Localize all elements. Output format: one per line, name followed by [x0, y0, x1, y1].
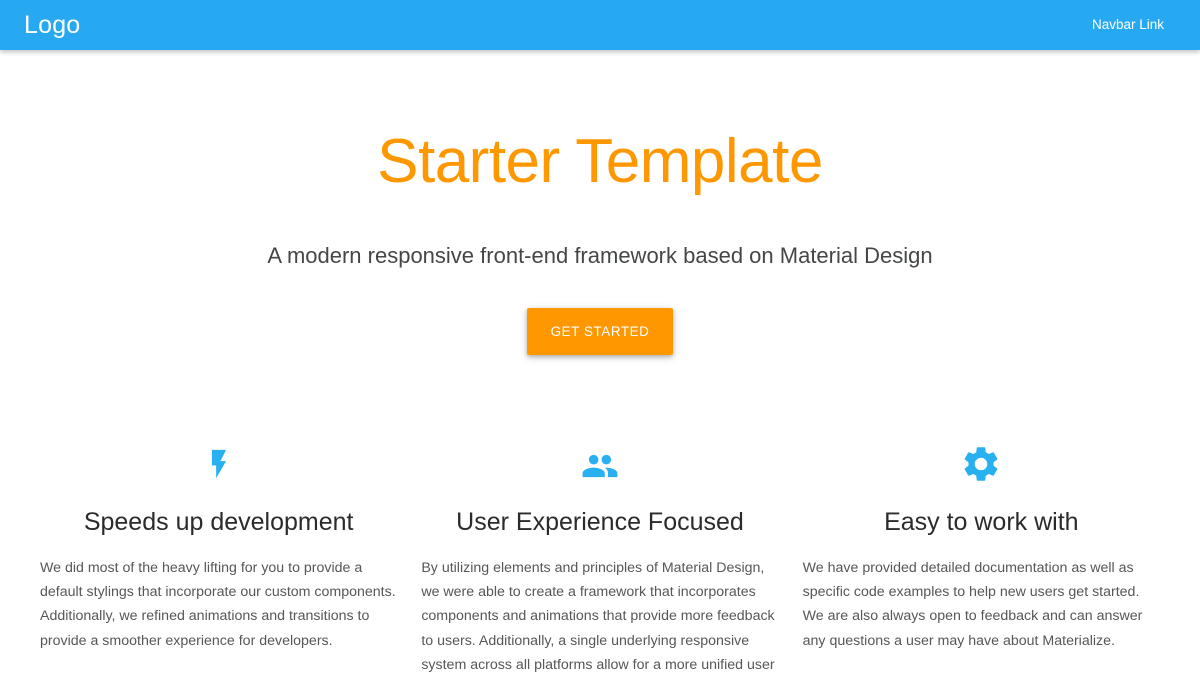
navbar-link-item: Navbar Link	[1078, 0, 1178, 50]
brand-logo[interactable]: Logo	[24, 0, 80, 50]
settings-gear-icon	[803, 439, 1160, 485]
get-started-button[interactable]: GET STARTED	[527, 308, 674, 355]
feature-column-user-experience-focused: User Experience Focused By utilizing ele…	[409, 439, 790, 677]
hero-section: Starter Template A modern responsive fro…	[0, 50, 1200, 355]
navbar-links: Navbar Link	[1078, 0, 1178, 50]
group-icon	[421, 439, 778, 485]
feature-body: By utilizing elements and principles of …	[421, 556, 778, 677]
nav-link-navbar-link[interactable]: Navbar Link	[1078, 0, 1178, 50]
cta-container: GET STARTED	[0, 308, 1200, 355]
features-section: Speeds up development We did most of the…	[0, 439, 1200, 677]
feature-body: We have provided detailed documentation …	[803, 556, 1160, 654]
feature-column-easy-to-work-with: Easy to work with We have provided detai…	[791, 439, 1172, 677]
feature-title: User Experience Focused	[421, 507, 778, 537]
feature-title: Speeds up development	[40, 507, 397, 537]
page-title: Starter Template	[0, 128, 1200, 196]
feature-column-speeds-up-development: Speeds up development We did most of the…	[28, 439, 409, 677]
feature-body: We did most of the heavy lifting for you…	[40, 556, 397, 654]
feature-title: Easy to work with	[803, 507, 1160, 537]
flash-icon	[40, 439, 397, 485]
page-subtitle: A modern responsive front-end framework …	[0, 243, 1200, 269]
top-navbar: Logo Navbar Link	[0, 0, 1200, 50]
